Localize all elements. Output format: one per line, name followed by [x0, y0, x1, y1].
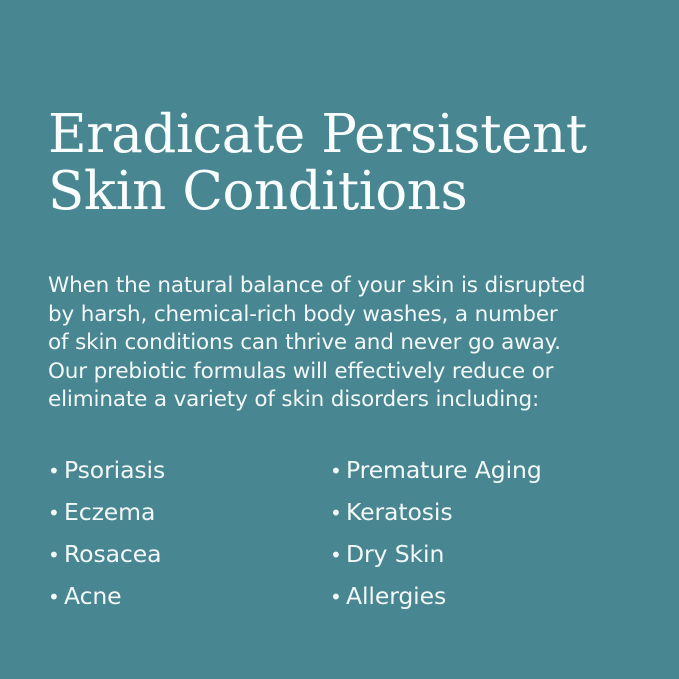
card-content: Eradicate Persistent Skin Conditions Whe…	[48, 0, 631, 617]
bullet-icon: •	[330, 576, 346, 618]
list-item-label: Acne	[64, 575, 122, 617]
list-item-label: Keratosis	[346, 491, 452, 533]
bullet-icon: •	[48, 534, 64, 576]
conditions-left-column: • Psoriasis • Eczema • Rosacea • Acne	[48, 449, 330, 617]
list-item: • Dry Skin	[330, 533, 620, 575]
list-item-label: Premature Aging	[346, 449, 542, 491]
list-item-label: Psoriasis	[64, 449, 165, 491]
bullet-icon: •	[330, 450, 346, 492]
list-item: • Premature Aging	[330, 449, 620, 491]
list-item: • Eczema	[48, 491, 330, 533]
list-item-label: Allergies	[346, 575, 446, 617]
list-item: • Allergies	[330, 575, 620, 617]
bullet-icon: •	[48, 492, 64, 534]
list-item: • Rosacea	[48, 533, 330, 575]
list-item-label: Dry Skin	[346, 533, 444, 575]
bullet-icon: •	[48, 576, 64, 618]
list-item: • Acne	[48, 575, 330, 617]
list-item-label: Rosacea	[64, 533, 161, 575]
list-item: • Keratosis	[330, 491, 620, 533]
bullet-icon: •	[330, 534, 346, 576]
body-paragraph: When the natural balance of your skin is…	[48, 220, 631, 415]
list-item-label: Eczema	[64, 491, 155, 533]
bullet-icon: •	[330, 492, 346, 534]
bullet-icon: •	[48, 450, 64, 492]
list-item: • Psoriasis	[48, 449, 330, 491]
conditions-list-group: • Psoriasis • Eczema • Rosacea • Acne	[48, 415, 631, 617]
promotional-card: Eradicate Persistent Skin Conditions Whe…	[0, 0, 679, 679]
page-title: Eradicate Persistent Skin Conditions	[48, 0, 631, 220]
conditions-right-column: • Premature Aging • Keratosis • Dry Skin…	[330, 449, 620, 617]
